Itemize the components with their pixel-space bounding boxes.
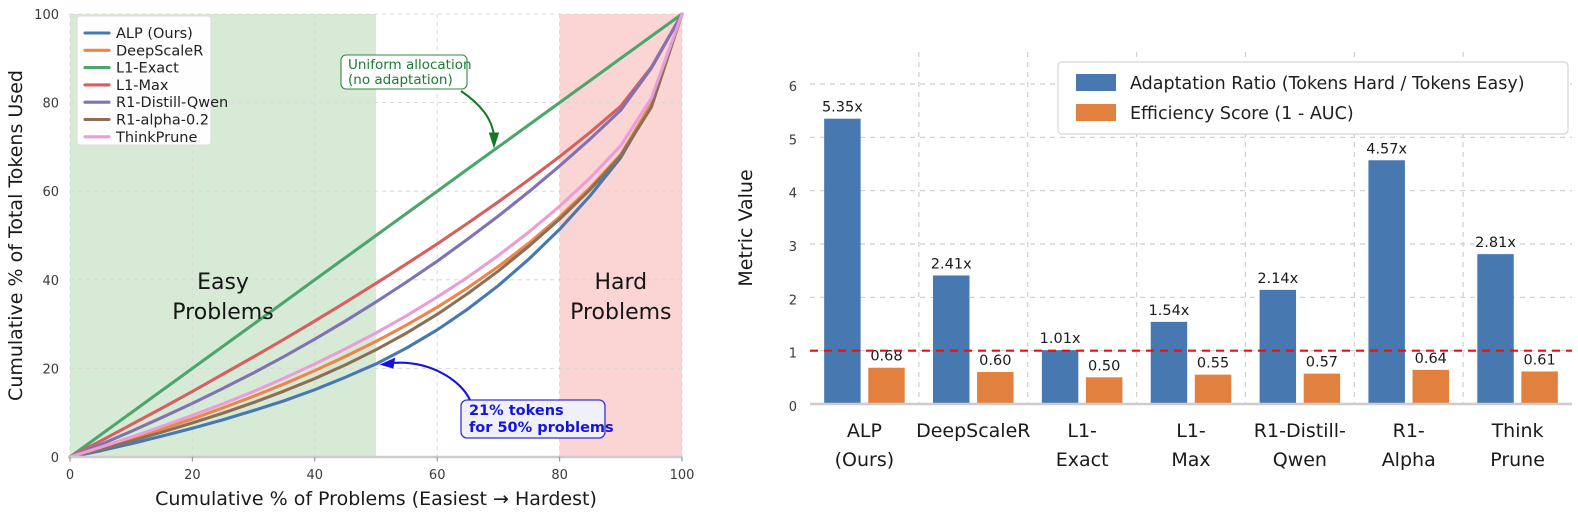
legend-label: Adaptation Ratio (Tokens Hard / Tokens E… (1130, 74, 1525, 94)
y-tick-label: 4 (789, 187, 797, 202)
category-label-line2: Prune (1490, 449, 1545, 471)
legend-label: Efficiency Score (1 - AUC) (1130, 104, 1354, 124)
easy-region-label-line1: Easy (197, 270, 249, 295)
category-label-line1: ALP (847, 420, 882, 442)
bar-value-label: 2.81x (1475, 235, 1516, 251)
category-label-line2: Exact (1056, 449, 1109, 471)
x-tick-label: 60 (429, 468, 446, 483)
bar-adaptation-ratio[interactable] (933, 275, 969, 404)
legend-label: R1-Distill-Qwen (116, 95, 228, 111)
left-chart-legend: ALP (Ours)DeepScaleRL1-ExactL1-MaxR1-Dis… (77, 16, 228, 146)
annotation-text-line2: (no adaptation) (348, 72, 453, 88)
bar-value-label: 0.50 (1088, 358, 1120, 374)
legend-swatch (1076, 104, 1116, 121)
x-axis-title: Cumulative % of Problems (Easiest → Hard… (155, 488, 597, 510)
y-tick-label: 0 (789, 400, 797, 415)
bar-efficiency-score[interactable] (1086, 377, 1122, 404)
right-chart-svg: 5.35x0.682.41x0.601.01x0.501.54x0.552.14… (720, 0, 1578, 522)
legend-item[interactable]: Adaptation Ratio (Tokens Hard / Tokens E… (1076, 74, 1525, 94)
category-label-line1: DeepScaleR (916, 420, 1030, 442)
bar-value-label: 2.41x (931, 256, 972, 272)
legend-label: ThinkPrune (115, 130, 197, 146)
y-axis-ticks: 020406080100 (34, 8, 59, 466)
hard-region-label-line2: Problems (570, 300, 671, 325)
bar-value-label: 1.01x (1040, 331, 1081, 347)
bar-efficiency-score[interactable] (1413, 370, 1449, 404)
y-tick-label: 1 (789, 347, 797, 362)
bar-value-label: 1.54x (1149, 303, 1190, 319)
bar-efficiency-score[interactable] (1195, 375, 1231, 404)
bar-value-label: 4.57x (1366, 141, 1407, 157)
bar-value-label: 0.57 (1306, 355, 1338, 371)
y-tick-label: 40 (42, 274, 59, 289)
y-tick-label: 20 (42, 362, 59, 377)
bar-efficiency-score[interactable] (868, 368, 904, 404)
x-tick-label: 100 (670, 468, 695, 483)
legend-label: ALP (Ours) (116, 26, 193, 42)
left-chart-panel: EasyProblemsHardProblems0204060801000204… (0, 0, 720, 522)
legend-label: L1-Exact (116, 61, 179, 77)
bar-efficiency-score[interactable] (977, 372, 1013, 404)
bar-value-label: 0.64 (1415, 351, 1447, 367)
category-label-line1: R1- (1393, 420, 1425, 442)
y-tick-label: 0 (51, 451, 59, 466)
legend-swatch (1076, 74, 1116, 91)
y-tick-label: 6 (789, 80, 797, 95)
y-tick-label: 60 (42, 185, 59, 200)
category-label-line2: Max (1171, 449, 1210, 471)
bar-adaptation-ratio[interactable] (1260, 290, 1296, 404)
shaded-region-hard (560, 14, 682, 457)
y-tick-label: 2 (789, 293, 797, 308)
y-axis-title: Metric Value (735, 169, 757, 286)
figure-container: EasyProblemsHardProblems0204060801000204… (0, 0, 1578, 522)
y-tick-label: 80 (42, 97, 59, 112)
x-tick-label: 80 (551, 468, 568, 483)
easy-region-label-line2: Problems (172, 300, 273, 325)
bar-value-label: 0.61 (1523, 352, 1555, 368)
category-label-line1: L1- (1067, 420, 1097, 442)
bar-adaptation-ratio[interactable] (824, 119, 860, 404)
bar-adaptation-ratio[interactable] (1042, 350, 1078, 404)
legend-label: DeepScaleR (116, 43, 203, 59)
bar-value-label: 0.55 (1197, 356, 1229, 372)
y-tick-label: 3 (789, 240, 797, 255)
bar-value-label: 2.14x (1257, 271, 1298, 287)
right-plot-area: 5.35x0.682.41x0.601.01x0.501.54x0.552.14… (735, 52, 1572, 471)
x-tick-label: 0 (66, 468, 74, 483)
category-label-line2: Alpha (1382, 449, 1436, 471)
category-label-line1: L1- (1176, 420, 1206, 442)
x-axis-ticks: 020406080100 (66, 457, 695, 483)
annotation-text-line1: 21% tokens (469, 403, 564, 419)
y-axis-title: Cumulative % of Total Tokens Used (5, 70, 27, 401)
category-label-line2: (Ours) (835, 449, 895, 471)
x-tick-label: 20 (184, 468, 201, 483)
left-plot-area: EasyProblemsHardProblems0204060801000204… (5, 8, 694, 510)
bar-efficiency-score[interactable] (1304, 374, 1340, 404)
category-label-line1: R1-Distill- (1254, 420, 1346, 442)
left-chart-svg: EasyProblemsHardProblems0204060801000204… (0, 0, 720, 522)
bar-adaptation-ratio[interactable] (1368, 160, 1404, 404)
right-chart-panel: 5.35x0.682.41x0.601.01x0.501.54x0.552.14… (720, 0, 1578, 522)
y-tick-label: 100 (34, 8, 59, 23)
legend-label: L1-Max (116, 78, 169, 94)
annotation-text-line1: Uniform allocation (348, 57, 472, 73)
annotation-text-line2: for 50% problems (469, 420, 614, 436)
x-axis-category-labels: ALP(Ours)DeepScaleRL1-ExactL1-MaxR1-Dist… (835, 420, 1545, 471)
annotation-arrow-blue (392, 363, 470, 400)
legend-label: R1-alpha-0.2 (116, 113, 209, 129)
y-tick-label: 5 (789, 133, 797, 148)
x-tick-label: 40 (307, 468, 324, 483)
bars-group: 5.35x0.682.41x0.601.01x0.501.54x0.552.14… (822, 100, 1558, 404)
y-axis-ticks: 0123456 (789, 80, 797, 415)
annotation-arrow-green (461, 91, 494, 136)
bar-adaptation-ratio[interactable] (1151, 322, 1187, 404)
bar-value-label: 0.60 (979, 353, 1011, 369)
bar-efficiency-score[interactable] (1521, 371, 1557, 404)
category-label-line2: Qwen (1273, 449, 1327, 471)
bar-adaptation-ratio[interactable] (1477, 254, 1513, 404)
right-chart-legend: Adaptation Ratio (Tokens Hard / Tokens E… (1058, 62, 1568, 134)
bar-value-label: 5.35x (822, 100, 863, 116)
hard-region-label-line1: Hard (594, 270, 647, 295)
category-label-line1: Think (1491, 420, 1544, 442)
